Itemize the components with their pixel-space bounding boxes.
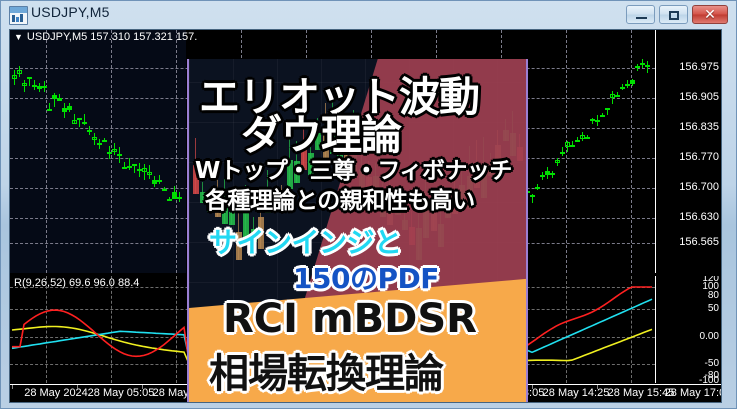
candlestick [47, 109, 52, 111]
candlestick [162, 189, 167, 191]
candlestick [102, 140, 107, 142]
chevron-down-icon[interactable]: ▼ [14, 32, 23, 42]
application-window: USDJPY,M5 ✕ 156.975156.905156.835156.770… [0, 0, 737, 409]
price-axis-label: 156.835 [679, 121, 719, 133]
candlestick [630, 80, 635, 84]
candlestick [112, 149, 117, 152]
candlestick [615, 95, 620, 97]
indicator-header: R(9,26,52) 69.6 96.0 88.4 [14, 277, 139, 289]
candlestick [97, 143, 102, 145]
candlestick [620, 87, 625, 89]
candlestick [92, 137, 97, 140]
price-axis-label: 156.770 [679, 151, 719, 163]
promo-line-4: 各種理論との親和性も高い [205, 181, 475, 215]
candle-wick [24, 80, 25, 91]
candlestick [605, 108, 610, 110]
time-axis-tick [12, 385, 13, 389]
candlestick [147, 172, 152, 175]
candlestick [555, 160, 560, 163]
candlestick [600, 115, 605, 117]
candlestick [560, 152, 565, 154]
candlestick [595, 120, 600, 122]
candlestick [107, 152, 112, 154]
time-axis-label: 28 May 05:05 [88, 387, 155, 399]
candlestick [530, 195, 535, 197]
minimize-button[interactable] [626, 5, 655, 24]
title-bar[interactable]: USDJPY,M5 ✕ [1, 1, 737, 28]
candlestick [67, 106, 72, 110]
price-axis-label: 156.565 [679, 236, 719, 248]
grid-line-vertical [631, 30, 632, 273]
price-axis-label: 156.905 [679, 91, 719, 103]
grid-line-vertical [176, 30, 177, 273]
indicator-axis: 12010080500.00-50-80-100 [655, 276, 722, 383]
time-axis-tick [597, 385, 598, 389]
time-axis-tick [77, 385, 78, 389]
candlestick [177, 197, 182, 199]
candlestick [575, 140, 580, 142]
time-axis-label: 28 May 2024 [24, 387, 88, 399]
price-axis-label: 156.630 [679, 211, 719, 223]
time-axis-tick [142, 385, 143, 389]
candlestick [17, 70, 22, 74]
maximize-button[interactable] [659, 5, 688, 24]
candlestick [42, 86, 47, 88]
candlestick [625, 84, 630, 86]
indicator-axis-label: 80 [708, 290, 719, 301]
indicator-axis-label: -100 [699, 375, 719, 383]
indicator-axis-label: -50 [705, 358, 719, 369]
promo-line-3: Wトップ・三尊・フィボナッチ [195, 151, 512, 185]
price-axis: 156.975156.905156.835156.770156.700156.6… [655, 30, 722, 273]
candlestick [535, 187, 540, 189]
candlestick [87, 130, 92, 132]
promo-line-8: 相場転換理論 [209, 341, 443, 399]
candlestick [635, 66, 640, 68]
candlestick [645, 65, 650, 67]
candlestick [585, 137, 590, 139]
candlestick [72, 120, 77, 123]
chart-app-icon [9, 6, 28, 25]
close-icon: ✕ [693, 6, 727, 23]
promo-line-6: 150のPDF [293, 257, 439, 297]
candlestick [12, 75, 17, 79]
time-axis-label: 28 May 14:25 [543, 387, 610, 399]
indicator-axis-label: 50 [708, 303, 719, 314]
candlestick [117, 154, 122, 156]
candlestick [122, 167, 127, 169]
promo-line-7: RCI mBDSR [223, 296, 477, 342]
time-axis-label: 28 May 17:05 [665, 387, 722, 399]
promo-line-5: サインインジと [209, 221, 402, 261]
chart-client-area[interactable]: 156.975156.905156.835156.770156.700156.6… [9, 29, 722, 403]
candlestick [77, 118, 82, 120]
candlestick [540, 175, 545, 177]
candle-wick [129, 158, 130, 170]
price-header-text: USDJPY,M5 157.310 157.321 157. [27, 31, 197, 43]
candlestick [22, 83, 27, 85]
promo-overlay: エリオット波動 ダウ理論 Wトップ・三尊・フィボナッチ 各種理論との親和性も高い… [187, 59, 528, 403]
candlestick [57, 98, 62, 101]
candlestick [157, 180, 162, 182]
grid-line-vertical [46, 30, 47, 273]
candlestick [570, 145, 575, 147]
candlestick [132, 164, 137, 166]
indicator-axis-label: 0.00 [700, 331, 719, 342]
window-title: USDJPY,M5 [31, 4, 110, 20]
candlestick [550, 173, 555, 175]
candlestick [27, 77, 32, 79]
candlestick [82, 122, 87, 124]
price-axis-label: 156.700 [679, 181, 719, 193]
price-chart-header: ▼USDJPY,M5 157.310 157.321 157. [14, 31, 197, 43]
candlestick [167, 199, 172, 201]
time-axis-tick [532, 385, 533, 389]
price-axis-label: 156.975 [679, 61, 719, 73]
close-button[interactable]: ✕ [692, 5, 728, 24]
